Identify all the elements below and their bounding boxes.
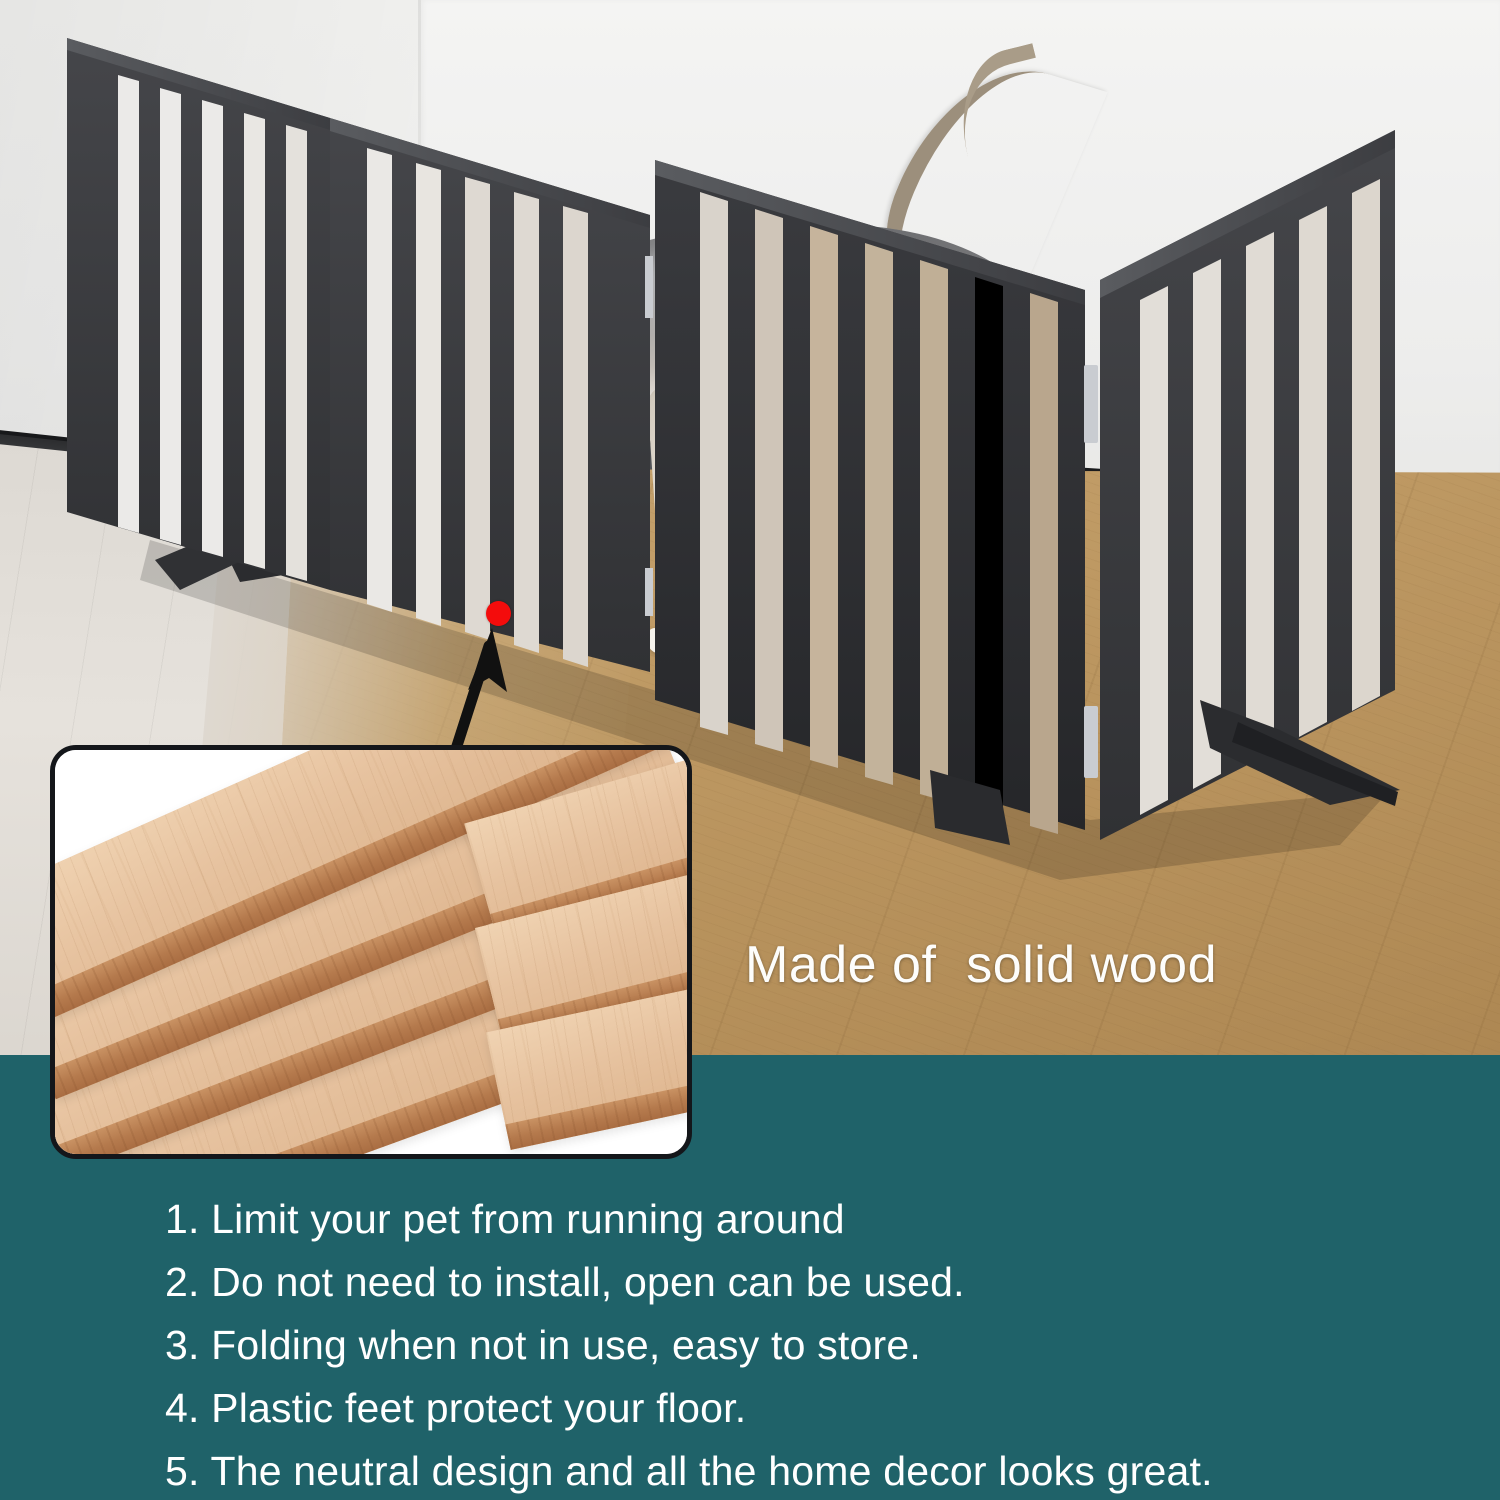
gate-panel-left <box>67 38 345 590</box>
hinge-lower-mid <box>645 568 653 616</box>
list-item: 5. The neutral design and all the home d… <box>165 1440 1465 1500</box>
hinge-group-right <box>1084 365 1098 778</box>
hinge-upper-mid <box>645 256 653 318</box>
list-item: 3. Folding when not in use, easy to stor… <box>165 1314 1465 1377</box>
hinge-lower-right <box>1084 706 1098 778</box>
list-item: 2. Do not need to install, open can be u… <box>165 1251 1465 1314</box>
headline-made-of-solid-wood: Made of solid wood <box>745 935 1217 995</box>
gate-panel-right <box>1100 130 1400 840</box>
features-list: 1. Limit your pet from running around 2.… <box>165 1188 1465 1500</box>
hinge-upper-right <box>1084 365 1098 443</box>
red-dot-marker <box>486 601 511 626</box>
product-image-root: Made of solid wood 1. Limit your pet fro… <box>0 0 1500 1500</box>
solid-wood-closeup <box>50 745 692 1159</box>
gate-panel-mid-left <box>330 118 650 672</box>
list-item: 4. Plastic feet protect your floor. <box>165 1377 1465 1440</box>
list-item: 1. Limit your pet from running around <box>165 1188 1465 1251</box>
